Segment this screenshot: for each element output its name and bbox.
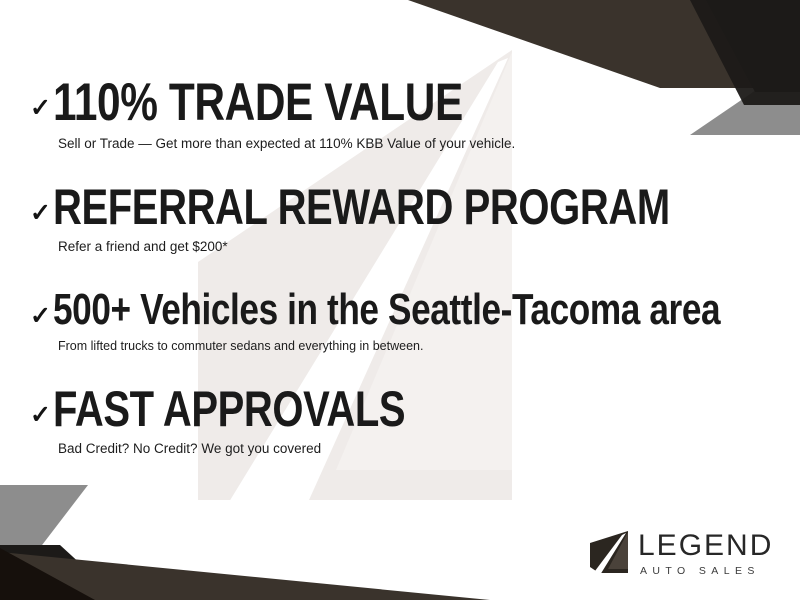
checklist-item-headline: FAST APPROVALS [53, 384, 405, 434]
checklist-item-subtext: Refer a friend and get $200* [58, 239, 790, 255]
check-icon: ✓ [30, 304, 51, 329]
checklist-item-headline-row: ✓ 110% TRADE VALUE [30, 76, 790, 129]
logo-tagline: AUTO SALES [640, 566, 773, 577]
checklist-item-headline-row: ✓ FAST APPROVALS [30, 384, 790, 434]
checklist-item: ✓ FAST APPROVALS Bad Credit? No Credit? … [30, 384, 790, 457]
check-icon: ✓ [30, 96, 51, 121]
checklist-item-headline-row: ✓ 500+ Vehicles in the Seattle-Tacoma ar… [30, 288, 790, 332]
checklist-item-headline: 110% TRADE VALUE [53, 76, 463, 129]
check-icon: ✓ [30, 403, 51, 428]
promo-banner: ✓ 110% TRADE VALUE Sell or Trade — Get m… [0, 0, 800, 600]
checklist-item: ✓ REFERRAL REWARD PROGRAM Refer a friend… [30, 182, 790, 255]
check-icon: ✓ [30, 201, 51, 226]
checklist-item-headline-row: ✓ REFERRAL REWARD PROGRAM [30, 182, 790, 232]
checklist-item-subtext: Sell or Trade — Get more than expected a… [58, 136, 790, 152]
checklist-item-headline: 500+ Vehicles in the Seattle-Tacoma area [53, 288, 720, 332]
brand-logo: LEGEND AUTO SALES [586, 524, 786, 582]
checklist-item: ✓ 500+ Vehicles in the Seattle-Tacoma ar… [30, 288, 790, 354]
checklist-item-subtext: Bad Credit? No Credit? We got you covere… [58, 441, 790, 457]
legend-mark-icon [586, 529, 630, 577]
logo-name: LEGEND [638, 531, 773, 561]
logo-wordmark: LEGEND AUTO SALES [638, 529, 773, 577]
checklist-item-subtext: From lifted trucks to commuter sedans an… [58, 339, 790, 354]
checklist-item-headline: REFERRAL REWARD PROGRAM [53, 182, 670, 232]
benefits-checklist: ✓ 110% TRADE VALUE Sell or Trade — Get m… [0, 0, 800, 600]
checklist-item: ✓ 110% TRADE VALUE Sell or Trade — Get m… [30, 76, 790, 152]
